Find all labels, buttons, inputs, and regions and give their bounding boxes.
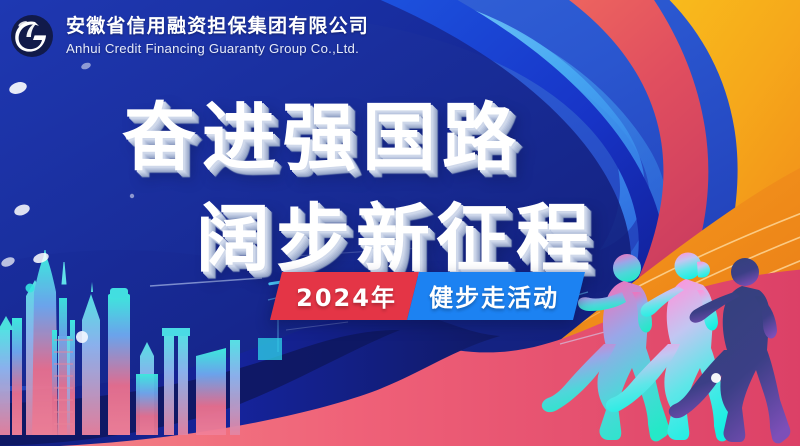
subtitle-year-label: 2024年: [296, 278, 397, 313]
title-line-2: 阔步新征程: [196, 179, 800, 286]
glow-orb-accent: [711, 373, 721, 383]
company-name-en: Anhui Credit Financing Guaranty Group Co…: [66, 42, 369, 56]
company-logo: [6, 10, 58, 62]
company-name-cn: 安徽省信用融资担保集团有限公司: [66, 17, 369, 37]
banner-header: 安徽省信用融资担保集团有限公司 Anhui Credit Financing G…: [0, 0, 800, 72]
company-name-block: 安徽省信用融资担保集团有限公司 Anhui Credit Financing G…: [66, 17, 369, 56]
cyan-block-accent: [258, 338, 282, 360]
title-line-1: 奋进强国路: [122, 78, 800, 185]
company-monogram-g-logo: [6, 10, 58, 62]
subtitle-event-label: 健步走活动: [429, 278, 559, 313]
subtitle-event-segment: 健步走活动: [407, 272, 585, 320]
subtitle-band: 2024年 健步走活动: [270, 272, 585, 320]
subtitle-year-segment: 2024年: [270, 272, 419, 320]
promotional-banner: 安徽省信用融资担保集团有限公司 Anhui Credit Financing G…: [0, 0, 800, 446]
main-title: 奋进强国路 阔步新征程: [0, 78, 800, 286]
